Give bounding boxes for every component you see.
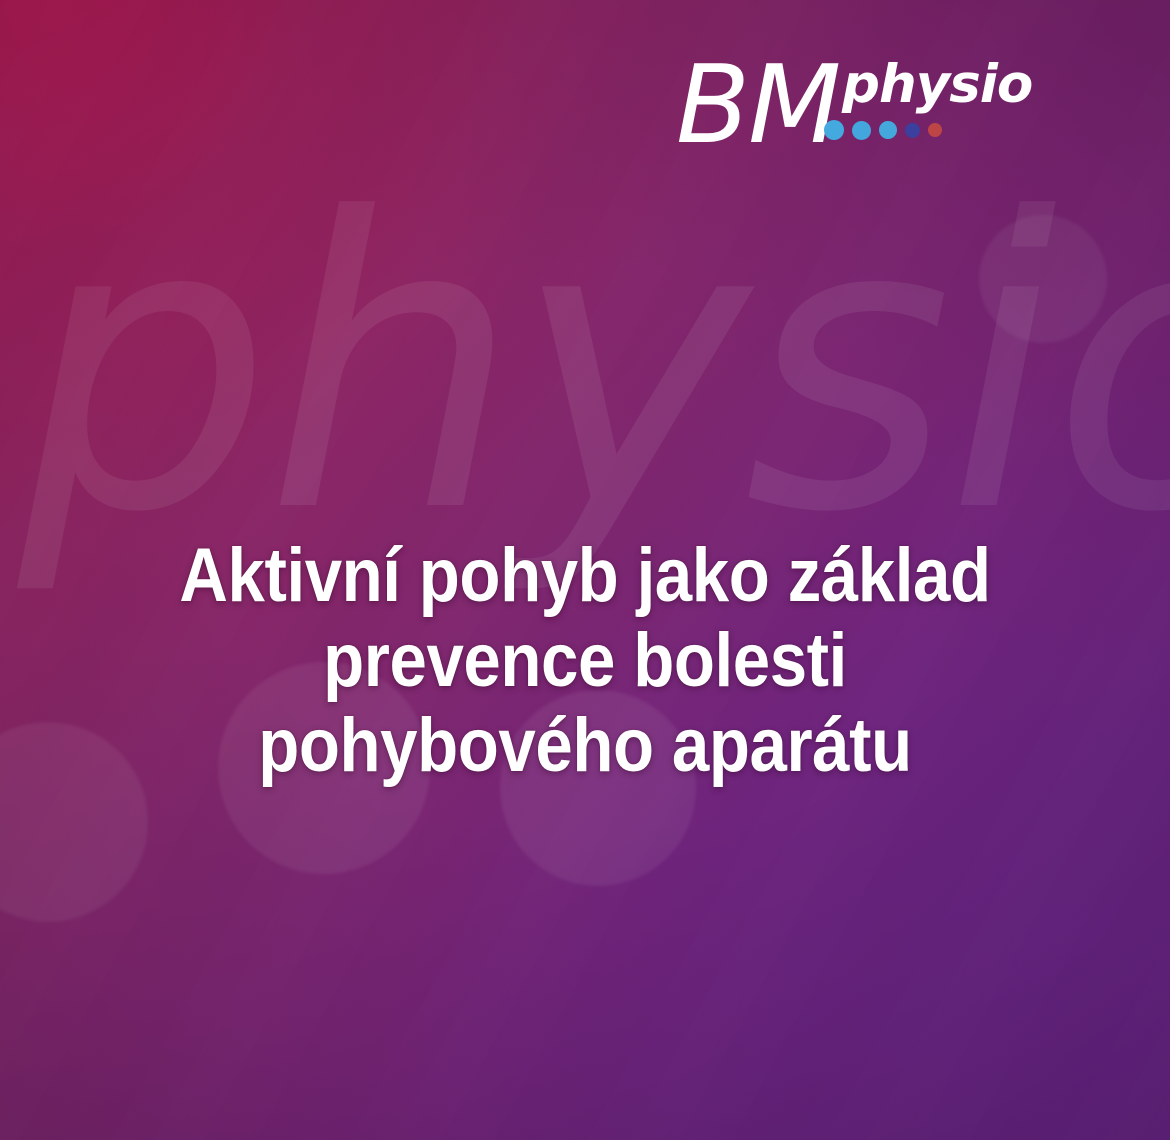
logo-dot-2 xyxy=(852,121,871,140)
logo-dot-5 xyxy=(928,123,942,137)
poster-card: physio BM physio Aktivní pohyb jako zákl… xyxy=(0,0,1170,1140)
logo-dot-1 xyxy=(824,120,844,140)
page-title: Aktivní pohyb jako základ prevence boles… xyxy=(67,533,1102,788)
logo-wordmark-physio: physio xyxy=(842,58,1032,111)
logo-dot-row xyxy=(824,120,942,140)
brand-logo[interactable]: BM physio xyxy=(676,52,1016,172)
logo-dot-4 xyxy=(905,123,920,138)
logo-dot-3 xyxy=(879,121,897,139)
logo-wordmark-bm: BM xyxy=(676,52,839,160)
